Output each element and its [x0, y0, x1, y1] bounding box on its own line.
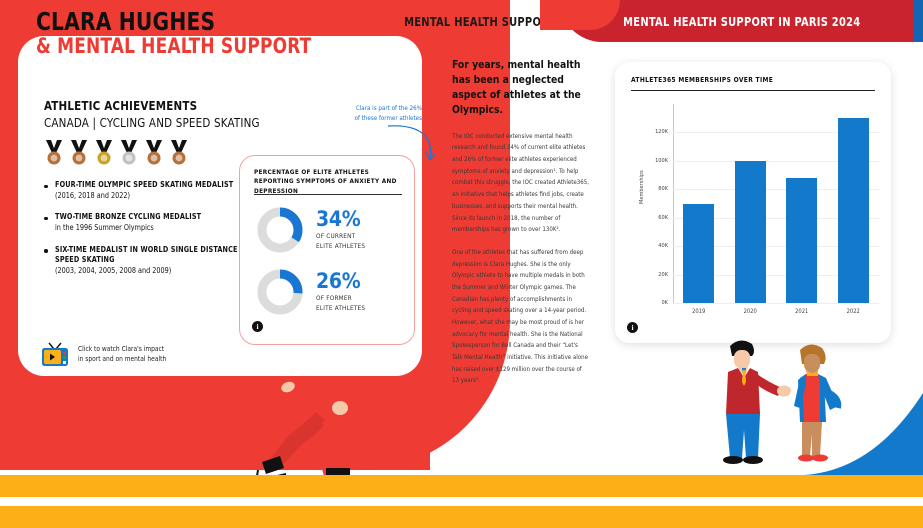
y-axis-tick-label: 0K: [661, 300, 668, 306]
y-axis-tick-label: 20K: [658, 272, 668, 278]
cta-line-2: in sport and on mental health: [78, 355, 166, 365]
achievements-subheading: CANADA | CYCLING AND SPEED SKATING: [44, 115, 320, 130]
divider: [631, 90, 875, 91]
medal-icon: [169, 140, 189, 166]
title-line-1: CLARA HUGHES: [36, 8, 311, 35]
donut-chart-current: [256, 206, 304, 254]
donut-label-current-2: ELITE ATHLETES: [316, 242, 365, 251]
gridline: [673, 303, 879, 304]
medal-icon: [119, 140, 139, 166]
chart-plot-area: 0K20K40K60K80K100K120K 2019202020212022: [673, 104, 879, 304]
callout-annotation: Clara is part of the 26% of these former…: [322, 104, 422, 123]
bar-group: 2020: [725, 104, 777, 303]
bar[interactable]: [838, 118, 869, 303]
bar-group: 2022: [828, 104, 880, 303]
x-axis-tick-label: 2020: [744, 309, 757, 315]
list-item-sub: in the 1996 Summer Olympics: [55, 223, 201, 234]
callout-line-1: Clara is part of the 26%: [322, 104, 422, 114]
main-text-column: For years, mental health has been a negl…: [452, 58, 590, 398]
chart-y-axis-label: Memberships: [639, 170, 645, 204]
x-axis-tick-label: 2022: [847, 309, 860, 315]
bullet-dot-icon: [44, 217, 48, 221]
yellow-band-top: [0, 475, 923, 497]
yellow-band-bottom: [0, 506, 923, 528]
header-blue-edge: [913, 0, 923, 42]
bar-group: 2021: [776, 104, 828, 303]
bar[interactable]: [735, 161, 766, 303]
info-badge-chart[interactable]: i: [627, 322, 638, 333]
bar[interactable]: [683, 204, 714, 304]
y-axis-tick-label: 40K: [658, 243, 668, 249]
y-axis-tick-label: 120K: [655, 129, 668, 135]
donut-percent-current: 34%: [316, 209, 365, 230]
retro-tv-play-icon[interactable]: [40, 341, 70, 369]
x-axis-tick-label: 2019: [692, 309, 705, 315]
white-band: [0, 497, 923, 506]
body-paragraph-2: One of the athletes that has suffered fr…: [452, 247, 590, 387]
lead-paragraph: For years, mental health has been a negl…: [452, 58, 590, 118]
chart-title: ATHLETE365 MEMBERSHIPS OVER TIME: [631, 76, 773, 84]
medal-icon: [94, 140, 114, 166]
cta-line-1: Click to watch Clara's impact: [78, 345, 166, 355]
list-item-title: TWO-TIME BRONZE CYCLING MEDALIST: [55, 212, 201, 223]
title-line-2: & MENTAL HEALTH SUPPORT: [36, 35, 311, 58]
list-item-title: FOUR-TIME OLYMPIC SPEED SKATING MEDALIST: [55, 180, 233, 191]
anxiety-depression-card: PERCENTAGE OF ELITE ATHLETES REPORTING S…: [239, 155, 415, 345]
y-axis-tick-label: 60K: [658, 215, 668, 221]
bullet-dot-icon: [44, 249, 48, 253]
bar-group: 2019: [673, 104, 725, 303]
bar[interactable]: [786, 178, 817, 303]
blue-corner-swoosh: [803, 393, 923, 475]
medal-icon: [144, 140, 164, 166]
page-title: CLARA HUGHES & MENTAL HEALTH SUPPORT: [36, 8, 342, 58]
medal-icon: [44, 140, 64, 166]
infographic-page: MENTAL HEALTH SUPPORT & THE OLYMPICS MEN…: [0, 0, 923, 528]
donut-label-former-2: ELITE ATHLETES: [316, 304, 365, 313]
donut-chart-former: [256, 268, 304, 316]
donut-label-current-1: OF CURRENT: [316, 232, 365, 241]
divider: [254, 194, 402, 195]
info-badge-donut[interactable]: i: [252, 321, 263, 332]
y-axis-tick-label: 80K: [658, 186, 668, 192]
list-item-sub: (2016, 2018 and 2022): [55, 191, 233, 202]
bar-series: 2019202020212022: [673, 104, 879, 303]
body-paragraph-1: The IOC conducted extensive mental healt…: [452, 131, 590, 236]
donut-row-current: 34% OF CURRENT ELITE ATHLETES: [256, 206, 365, 254]
donut-percent-former: 26%: [316, 271, 365, 292]
donut-label-former-1: OF FORMER: [316, 294, 365, 303]
donut-row-former: 26% OF FORMER ELITE ATHLETES: [256, 268, 365, 316]
watch-video-cta[interactable]: Click to watch Clara's impact in sport a…: [40, 341, 166, 369]
y-axis-tick-label: 100K: [655, 158, 668, 164]
achievements-heading: ATHLETIC ACHIEVEMENTS: [44, 98, 320, 113]
header-right-title: MENTAL HEALTH SUPPORT IN PARIS 2024: [623, 14, 860, 29]
bullet-dot-icon: [44, 185, 48, 189]
curved-arrow-icon: [382, 120, 442, 182]
x-axis-tick-label: 2021: [795, 309, 808, 315]
memberships-chart-card: ATHLETE365 MEMBERSHIPS OVER TIME Members…: [615, 62, 891, 343]
medal-icon: [69, 140, 89, 166]
